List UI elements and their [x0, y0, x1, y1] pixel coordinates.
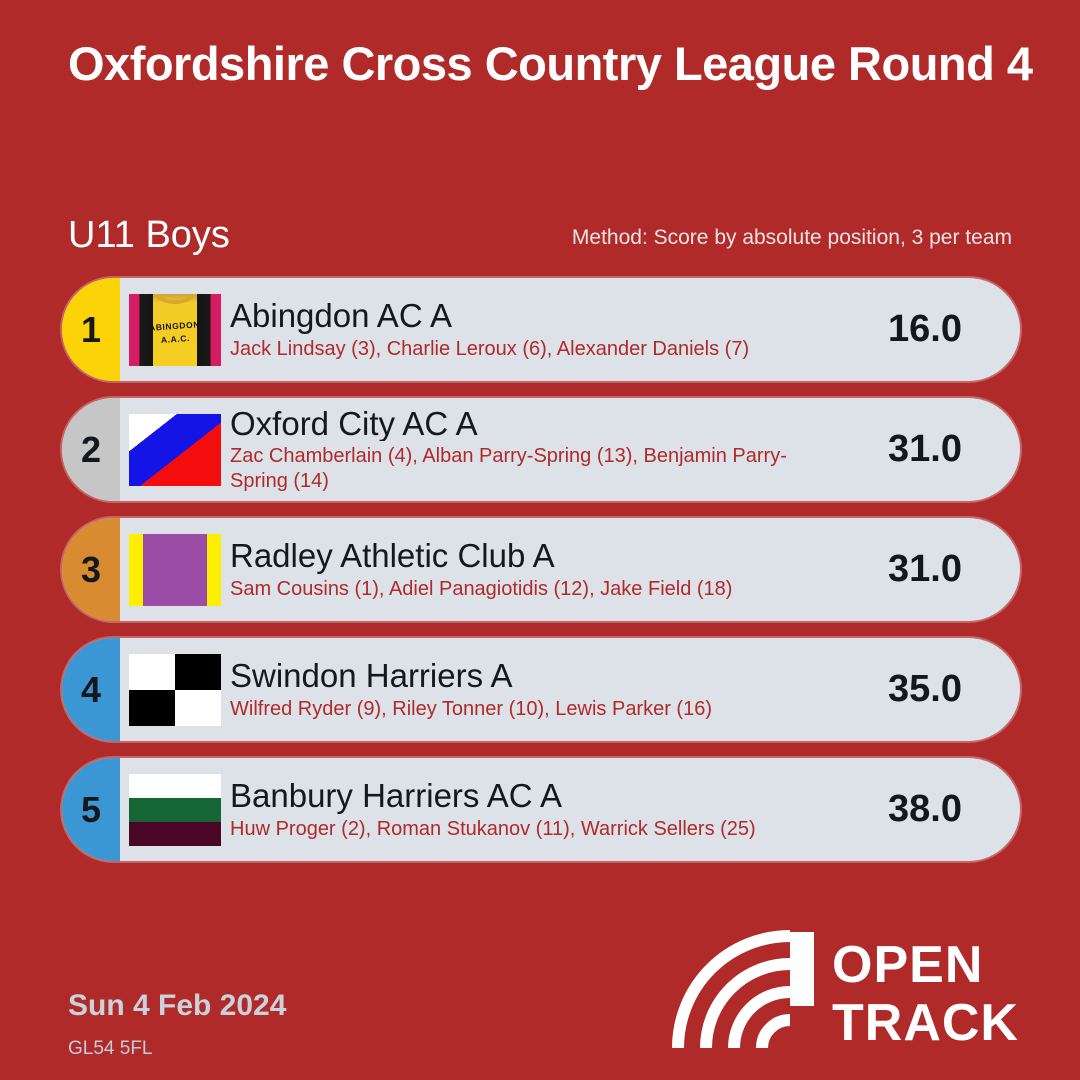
vest-text-line1: ABINGDON — [149, 319, 201, 333]
rank-badge: 4 — [62, 638, 120, 741]
section-header: U11 Boys Method: Score by absolute posit… — [68, 214, 1012, 260]
rank-badge: 3 — [62, 518, 120, 621]
team-flag-cell — [120, 758, 230, 861]
team-flag-cell — [120, 398, 230, 501]
team-score: 31.0 — [830, 398, 1020, 501]
flag-center-panel — [143, 534, 207, 606]
team-flag-cell — [120, 518, 230, 621]
vest-club-text: ABINGDON A.A.C. — [129, 316, 221, 349]
scoring-method-note: Method: Score by absolute position, 3 pe… — [572, 226, 1012, 250]
rank-badge: 5 — [62, 758, 120, 861]
team-athletes: Wilfred Ryder (9), Riley Tonner (10), Le… — [230, 697, 816, 721]
team-cell: Abingdon AC A Jack Lindsay (3), Charlie … — [230, 278, 830, 381]
team-score: 38.0 — [830, 758, 1020, 861]
team-athletes: Jack Lindsay (3), Charlie Leroux (6), Al… — [230, 337, 816, 361]
results-list: 1 ABINGDON A.A.C. Abingdon AC A Jack Lin… — [62, 278, 1020, 878]
brand-line-2: TRACK — [832, 994, 1019, 1050]
rank-badge: 2 — [62, 398, 120, 501]
swindon-flag-icon — [129, 654, 221, 726]
rank-number: 3 — [81, 549, 101, 591]
flag-quadrant-top-left — [129, 654, 175, 690]
track-bar-icon — [790, 932, 814, 1006]
team-name: Abingdon AC A — [230, 298, 816, 334]
table-row[interactable]: 2 Oxford City AC A Zac Chamberlain (4), … — [62, 398, 1020, 501]
team-flag-cell — [120, 638, 230, 741]
flag-red-band — [129, 414, 221, 486]
flag-band-maroon — [129, 822, 221, 846]
banbury-flag-icon — [129, 774, 221, 846]
flag-band-white — [129, 774, 221, 798]
team-name: Swindon Harriers A — [230, 658, 816, 694]
event-date: Sun 4 Feb 2024 — [68, 989, 286, 1023]
rank-number: 2 — [81, 429, 101, 471]
rank-number: 1 — [81, 309, 101, 351]
flag-band-green — [129, 798, 221, 822]
team-score: 35.0 — [830, 638, 1020, 741]
team-cell: Banbury Harriers AC A Huw Proger (2), Ro… — [230, 758, 830, 861]
flag-quadrant-bottom-left — [129, 690, 175, 726]
flag-stripe-right — [207, 534, 221, 606]
team-athletes: Sam Cousins (1), Adiel Panagiotidis (12)… — [230, 577, 816, 601]
table-row[interactable]: 1 ABINGDON A.A.C. Abingdon AC A Jack Lin… — [62, 278, 1020, 381]
opentrack-logo: OPEN TRACK — [672, 930, 1042, 1050]
team-cell: Radley Athletic Club A Sam Cousins (1), … — [230, 518, 830, 621]
flag-stripe-left — [129, 534, 143, 606]
flag-quadrant-bottom-right — [175, 690, 221, 726]
abingdon-vest-icon: ABINGDON A.A.C. — [129, 294, 221, 366]
team-score: 31.0 — [830, 518, 1020, 621]
team-score: 16.0 — [830, 278, 1020, 381]
team-name: Oxford City AC A — [230, 406, 816, 442]
table-row[interactable]: 4 Swindon Harriers A Wilfred Ryder (9), … — [62, 638, 1020, 741]
team-athletes: Zac Chamberlain (4), Alban Parry-Spring … — [230, 444, 816, 493]
team-athletes: Huw Proger (2), Roman Stukanov (11), War… — [230, 817, 816, 841]
oxford-city-flag-icon — [129, 414, 221, 486]
page-title: Oxfordshire Cross Country League Round 4 — [68, 36, 1058, 91]
vest-text-line2: A.A.C. — [161, 333, 191, 345]
vest-neck-shape — [153, 294, 197, 304]
team-cell: Oxford City AC A Zac Chamberlain (4), Al… — [230, 398, 830, 501]
team-name: Radley Athletic Club A — [230, 538, 816, 574]
rank-number: 4 — [81, 669, 101, 711]
team-cell: Swindon Harriers A Wilfred Ryder (9), Ri… — [230, 638, 830, 741]
event-venue-postcode: GL54 5FL — [68, 1038, 153, 1060]
rank-number: 5 — [81, 789, 101, 831]
brand-line-1: OPEN — [832, 936, 983, 994]
team-name: Banbury Harriers AC A — [230, 778, 816, 814]
track-arcs-icon — [678, 936, 790, 1048]
category-title: U11 Boys — [68, 214, 230, 257]
radley-flag-icon — [129, 534, 221, 606]
table-row[interactable]: 5 Banbury Harriers AC A Huw Proger (2), … — [62, 758, 1020, 861]
table-row[interactable]: 3 Radley Athletic Club A Sam Cousins (1)… — [62, 518, 1020, 621]
team-flag-cell: ABINGDON A.A.C. — [120, 278, 230, 381]
rank-badge: 1 — [62, 278, 120, 381]
flag-quadrant-top-right — [175, 654, 221, 690]
